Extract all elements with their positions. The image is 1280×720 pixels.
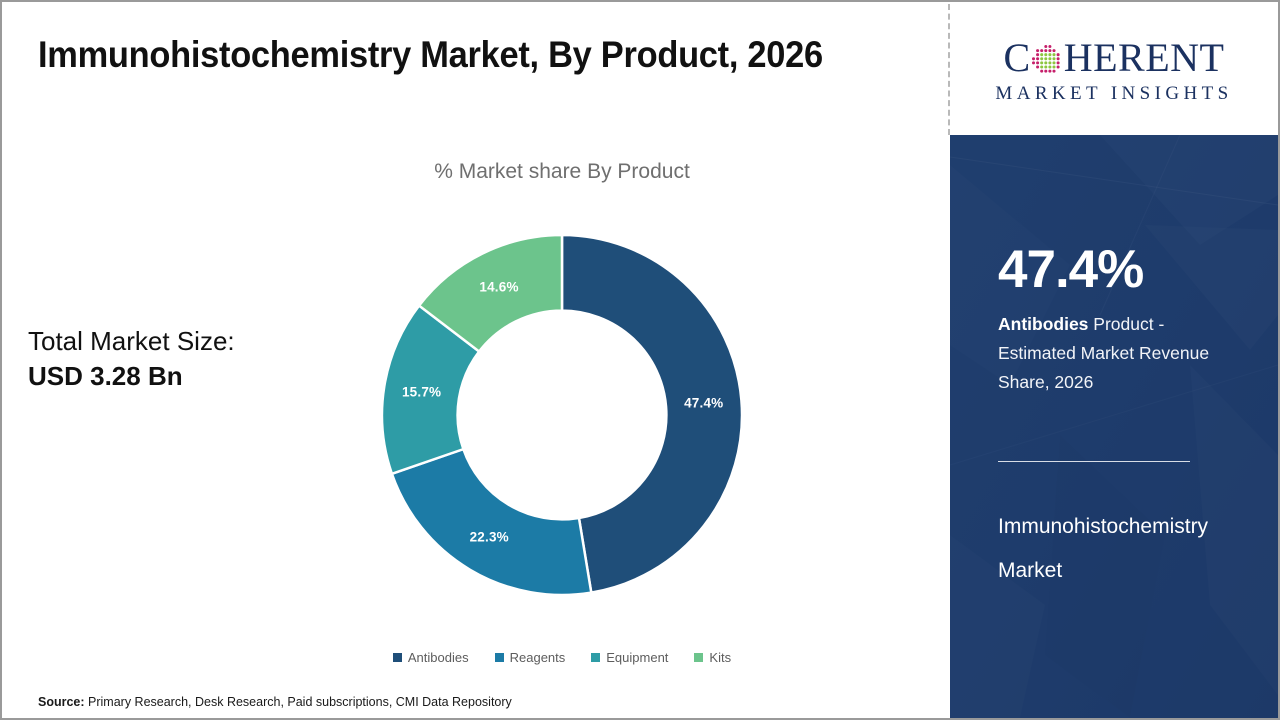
legend-swatch-icon	[694, 653, 703, 662]
legend-swatch-icon	[393, 653, 402, 662]
page-title: Immunohistochemistry Market, By Product,…	[38, 34, 866, 76]
legend-item-kits[interactable]: Kits	[694, 650, 731, 665]
legend-swatch-icon	[591, 653, 600, 662]
total-market-size-label: Total Market Size:	[28, 324, 235, 359]
chart-legend: AntibodiesReagentsEquipmentKits	[252, 650, 872, 665]
donut-chart-svg	[377, 230, 747, 600]
donut-slice-antibodies[interactable]	[562, 235, 742, 593]
source-note: Source: Primary Research, Desk Research,…	[38, 695, 512, 709]
chart-panel: Immunohistochemistry Market, By Product,…	[2, 2, 947, 718]
source-text: Primary Research, Desk Research, Paid su…	[85, 695, 512, 709]
donut-slice-reagents[interactable]	[392, 449, 591, 595]
stat-description: Antibodies Product - Estimated Market Re…	[998, 310, 1230, 397]
logo-letter-c: C	[1004, 38, 1031, 78]
source-label: Source:	[38, 695, 85, 709]
brand-stat-panel: C HERENT MARKET INSIGHTS	[950, 2, 1278, 718]
legend-item-reagents[interactable]: Reagents	[495, 650, 566, 665]
slice-label-kits: 14.6%	[479, 280, 518, 295]
stat-divider	[998, 461, 1190, 462]
slice-label-equipment: 15.7%	[402, 385, 441, 400]
logo-wordmark: C HERENT	[1004, 38, 1225, 78]
logo-wordmark-rest: HERENT	[1064, 38, 1225, 78]
infographic-canvas: Immunohistochemistry Market, By Product,…	[0, 0, 1280, 720]
legend-label: Kits	[709, 650, 731, 665]
logo-tagline: MARKET INSIGHTS	[995, 83, 1232, 105]
slice-label-reagents: 22.3%	[470, 530, 509, 545]
stat-description-bold: Antibodies	[998, 314, 1088, 334]
stat-percent-value: 47.4%	[998, 243, 1143, 296]
legend-swatch-icon	[495, 653, 504, 662]
legend-item-equipment[interactable]: Equipment	[591, 650, 668, 665]
globe-dots-icon	[1032, 45, 1063, 76]
total-market-size: Total Market Size: USD 3.28 Bn	[28, 324, 235, 393]
legend-item-antibodies[interactable]: Antibodies	[393, 650, 469, 665]
legend-label: Equipment	[606, 650, 668, 665]
slice-label-antibodies: 47.4%	[684, 396, 723, 411]
donut-chart: 47.4% 22.3% 15.7% 14.6%	[377, 230, 747, 600]
legend-label: Reagents	[510, 650, 566, 665]
total-market-size-value: USD 3.28 Bn	[28, 359, 235, 394]
chart-subtitle: % Market share By Product	[252, 160, 872, 184]
logo: C HERENT MARKET INSIGHTS	[950, 2, 1278, 135]
legend-label: Antibodies	[408, 650, 469, 665]
stat-market-name: Immunohistochemistry Market	[998, 505, 1230, 593]
highlight-stat-panel: 47.4% Antibodies Product - Estimated Mar…	[950, 135, 1278, 718]
stat-content: 47.4% Antibodies Product - Estimated Mar…	[998, 135, 1248, 718]
